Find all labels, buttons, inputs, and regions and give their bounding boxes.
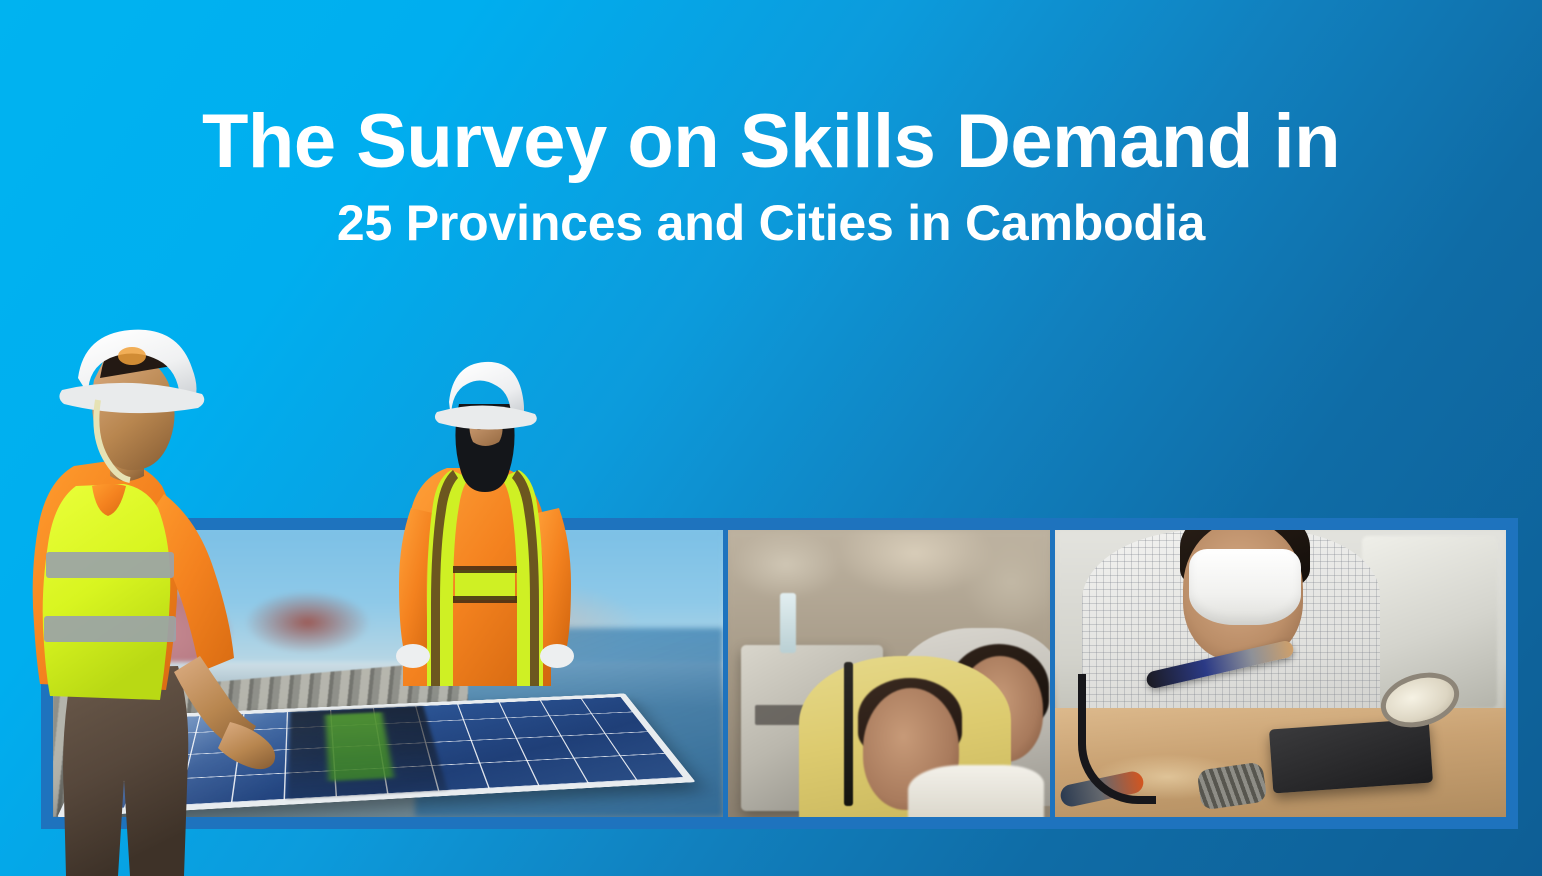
worker-standing-right: [395, 356, 575, 686]
circuit-board-holder: [1269, 719, 1433, 794]
photo-electronics-soldering: [1055, 530, 1506, 817]
worker-left-vest-band-lower: [44, 616, 176, 642]
worker-left-vest-band-upper: [46, 552, 174, 578]
sewing-machine-needle-arm: [844, 662, 853, 806]
white-fabric-pile: [908, 765, 1043, 817]
worker-right-glove-right: [540, 644, 574, 668]
face-mask: [1189, 549, 1301, 625]
worker-carrying-panel-left: [14, 316, 286, 876]
worker-left-vest: [43, 484, 171, 700]
banner-heading: The Survey on Skills Demand in 25 Provin…: [0, 104, 1542, 248]
worker-right-harness-cross-band: [455, 570, 515, 600]
worker-right-strap-band-top: [453, 566, 517, 573]
page-subtitle: 25 Provinces and Cities in Cambodia: [0, 198, 1542, 248]
solar-panel-reflection: [288, 706, 448, 800]
survey-banner: The Survey on Skills Demand in 25 Provin…: [0, 0, 1542, 876]
photo-garment-factory-sewing: [728, 530, 1050, 817]
page-title: The Survey on Skills Demand in: [0, 104, 1542, 180]
thread-spool: [780, 593, 796, 653]
worker-right-strap-band-bottom: [453, 596, 517, 603]
worker-right-glove-left: [396, 644, 430, 668]
worker-left-helmet-logo: [118, 347, 146, 365]
